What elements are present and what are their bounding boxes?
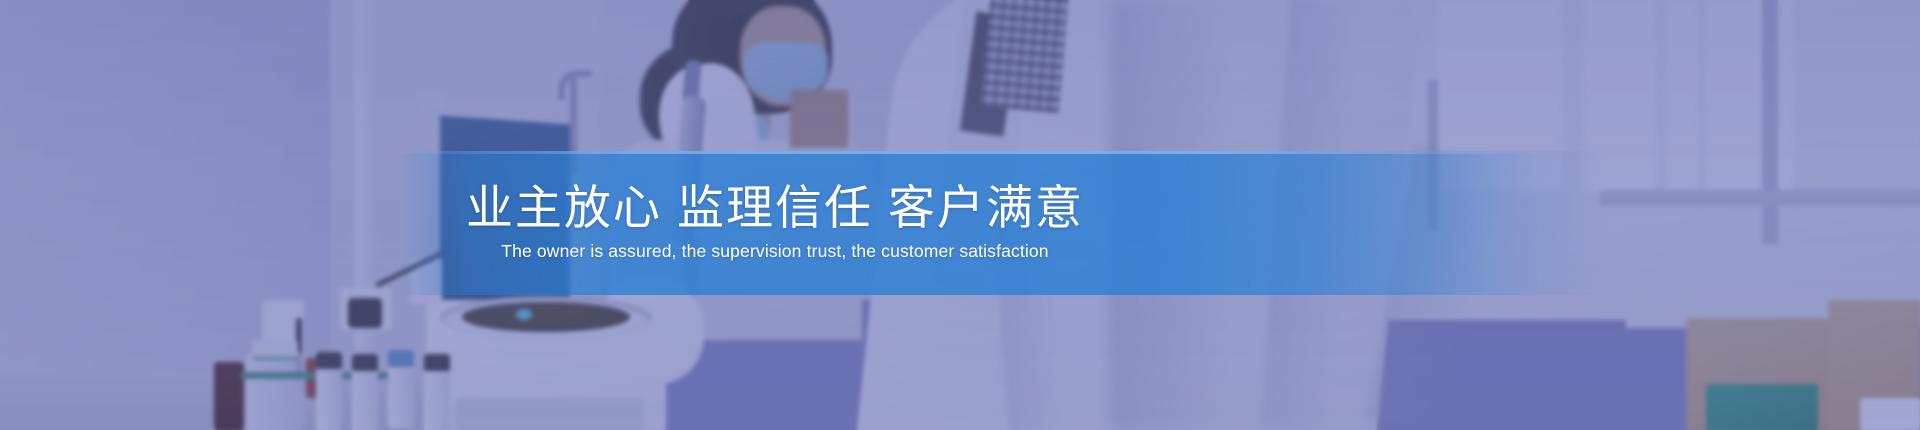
centrifuge-rotor (462, 302, 630, 332)
teal-box (1706, 384, 1818, 430)
vial-cap (424, 354, 450, 371)
reagent-bottle (214, 362, 244, 430)
banner-headline: 业主放心 监理信任 客户满意 (466, 184, 1084, 233)
hero-banner: 业主放心 监理信任 客户满意 The owner is assured, the… (0, 0, 1920, 430)
bottle-cap (252, 340, 298, 360)
plaid-collar (981, 0, 1069, 113)
technician-front-neck (790, 90, 848, 148)
vial-cap (388, 350, 414, 367)
centrifuge-base (454, 398, 644, 430)
vial-cap (352, 354, 378, 371)
white-bin (1860, 398, 1920, 430)
banner-text-block: 业主放心 监理信任 客户满意 The owner is assured, the… (0, 151, 1920, 295)
sample-tube (516, 309, 532, 320)
reagent-bottle (246, 352, 304, 430)
banner-subtitle: The owner is assured, the supervision tr… (501, 241, 1048, 262)
power-plug (348, 298, 382, 328)
vial-cap (316, 352, 342, 369)
